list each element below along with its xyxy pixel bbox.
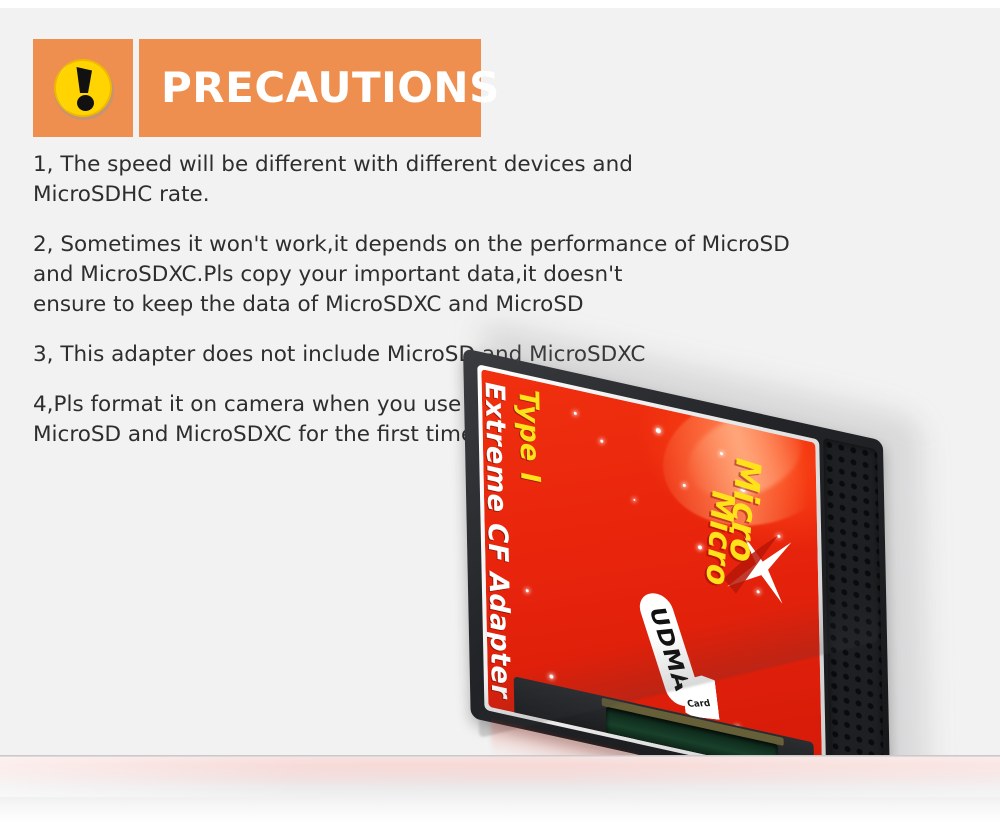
table-surface-sheen [0,757,1000,797]
label-type-text: Type I [513,386,546,486]
brand-word-bottom: Micro [698,485,740,591]
header-icon-box [33,39,133,137]
page-root: PRECAUTIONS 1, The speed will be differe… [0,0,1000,823]
header-title-box: PRECAUTIONS [139,39,481,137]
microsd-card-glyph-label: Card [686,699,711,710]
precaution-item-1: 1, The speed will be different with diff… [33,150,933,210]
cf-card-assembly: Type I Extreme CF Adapter UDMA Card [455,340,1000,770]
exclamation-warning-icon [48,53,118,123]
page-title: PRECAUTIONS [161,67,500,109]
product-image-cf-adapter: Type I Extreme CF Adapter UDMA Card [455,340,1000,770]
precautions-header: PRECAUTIONS [33,39,481,137]
precaution-item-2: 2, Sometimes it won't work,it depends on… [33,230,933,320]
